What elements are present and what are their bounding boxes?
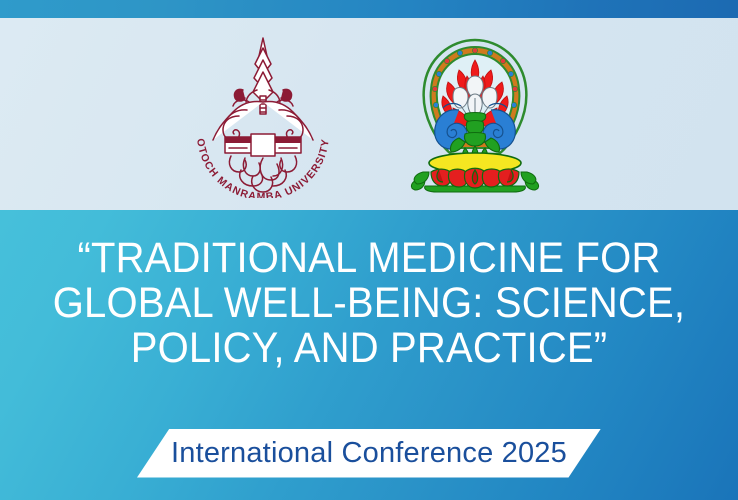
- title-line-2: GLOBAL WELL-BEING: SCIENCE,: [26, 281, 712, 326]
- conference-banner: International Conference 2025: [137, 429, 601, 478]
- conference-banner-label: International Conference 2025: [171, 437, 567, 469]
- otoch-manramba-university-logo: OTOCH MANRAMBA UNIVERSITY: [183, 30, 343, 198]
- conference-banner-wrap: International Conference 2025: [0, 427, 738, 479]
- traditional-medicine-emblem-logo: [395, 30, 555, 198]
- top-accent-bar: [0, 0, 738, 18]
- title-line-3: POLICY, AND PRACTICE”: [26, 326, 712, 371]
- title-line-1: “TRADITIONAL MEDICINE FOR: [26, 236, 712, 281]
- conference-title: “TRADITIONAL MEDICINE FOR GLOBAL WELL-BE…: [0, 236, 738, 371]
- lotus-throne: [431, 168, 519, 188]
- logo-band: OTOCH MANRAMBA UNIVERSITY: [0, 18, 738, 210]
- conference-poster: OTOCH MANRAMBA UNIVERSITY: [0, 0, 738, 500]
